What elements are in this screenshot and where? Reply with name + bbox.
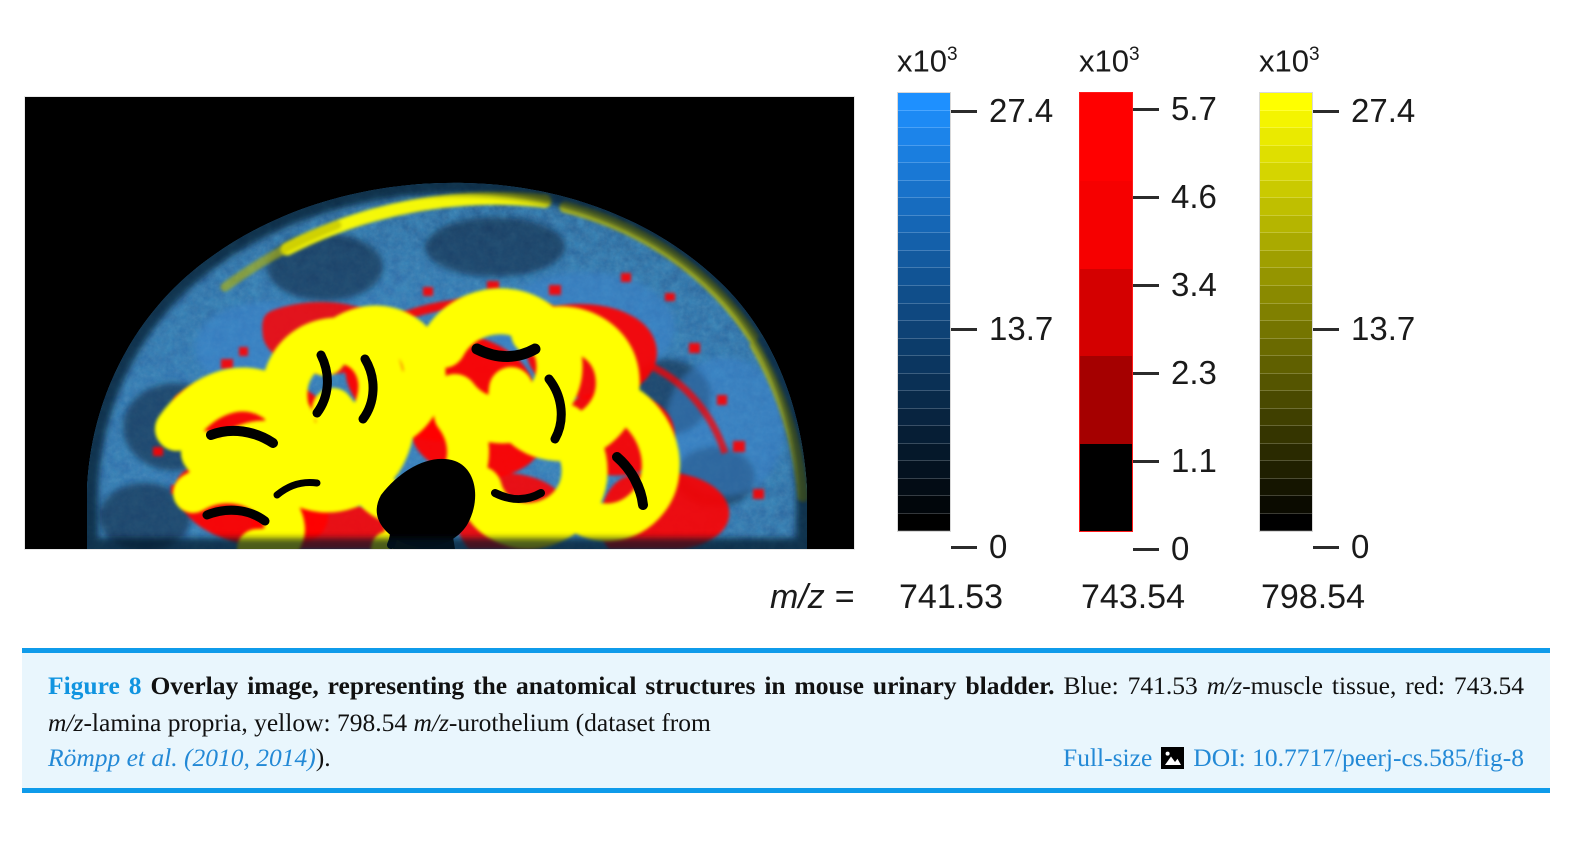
tick-mark bbox=[1133, 372, 1159, 375]
mz-row: m/z = 741.53 743.54 798.54 bbox=[0, 578, 1572, 624]
caption-body-lamina: -lamina propria, yellow: bbox=[83, 708, 330, 737]
tick-mark bbox=[951, 110, 977, 113]
tick-mark bbox=[1133, 548, 1159, 551]
colorbar-blue-exponent-prefix: x10 bbox=[897, 43, 947, 78]
msi-overlay-image bbox=[25, 97, 854, 549]
caption-mz-italic-2: m/z bbox=[48, 708, 83, 737]
colorbar-yellow-exponent: x103 bbox=[1259, 45, 1320, 76]
caption-body-urothelium: -urothelium (dataset from bbox=[449, 708, 711, 737]
doi-link[interactable]: DOI: 10.7717/peerj-cs.585/fig-8 bbox=[1193, 739, 1524, 776]
colorbar-blue-tick-mid: 13.7 bbox=[989, 310, 1053, 348]
colorbar-blue-tick-min: 0 bbox=[989, 528, 1007, 566]
image-thumbnail-glyph bbox=[1163, 749, 1182, 767]
tick-mark bbox=[1313, 328, 1339, 331]
mz-prefix-label: m/z = bbox=[770, 578, 854, 617]
tick-mark bbox=[1313, 546, 1339, 549]
caption-mz-798: 798.54 bbox=[337, 708, 407, 737]
colorbar-red-tick-2: 2.3 bbox=[1171, 354, 1217, 392]
caption-mz-741: 741.53 bbox=[1128, 671, 1198, 700]
colorbar-red-gradient bbox=[1079, 92, 1133, 532]
colorbar-blue-tick-max: 27.4 bbox=[989, 92, 1053, 130]
tick-mark bbox=[951, 328, 977, 331]
colorbar-red-exponent-prefix: x10 bbox=[1079, 43, 1129, 78]
colorbar-yellow-tick-max: 27.4 bbox=[1351, 92, 1415, 130]
caption-links: Full-size DOI: 10.7717/peerj-cs.585/fig-… bbox=[1063, 739, 1524, 776]
colorbar-yellow-tick-min: 0 bbox=[1351, 528, 1369, 566]
figure-caption-box: Figure 8 Overlay image, representing the… bbox=[22, 648, 1550, 793]
colorbar-yellow: x103 27.4 13.7 0 bbox=[1259, 45, 1320, 532]
colorbar-blue-exponent-power: 3 bbox=[947, 44, 958, 65]
caption-mz-italic-3: m/z bbox=[413, 708, 448, 737]
colorbar-yellow-exponent-power: 3 bbox=[1309, 44, 1320, 65]
colorbar-red-tick-4: 4.6 bbox=[1171, 178, 1217, 216]
caption-footer-row: Römpp et al. (2010, 2014)). Full-size DO… bbox=[48, 739, 1524, 776]
colorbar-yellow-gradient bbox=[1259, 92, 1313, 532]
colorbar-red-tick-1: 1.1 bbox=[1171, 442, 1217, 480]
caption-citation-tail: ). bbox=[316, 743, 331, 772]
colorbar-red-tick-3: 3.4 bbox=[1171, 266, 1217, 304]
tissue-svg bbox=[25, 97, 854, 549]
colorbar-red-exponent: x103 bbox=[1079, 45, 1140, 76]
colorbar-red: x103 5.7 4.6 3.4 2.3 bbox=[1079, 45, 1140, 532]
tick-mark bbox=[1133, 460, 1159, 463]
colorbar-red-tick-0: 0 bbox=[1171, 530, 1189, 568]
mz-value-yellow: 798.54 bbox=[1261, 578, 1365, 617]
caption-title: Overlay image, representing the anatomic… bbox=[150, 671, 1054, 700]
colorbar-blue: x103 27.4 13.7 0 bbox=[897, 45, 958, 532]
caption-body-muscle: -muscle tissue, red: bbox=[1242, 671, 1445, 700]
mz-value-red: 743.54 bbox=[1081, 578, 1185, 617]
caption-citation-wrap: Römpp et al. (2010, 2014)). bbox=[48, 739, 331, 776]
citation-link-rompp[interactable]: Römpp et al. (2010, 2014) bbox=[48, 743, 316, 772]
tick-mark bbox=[1133, 196, 1159, 199]
tick-mark bbox=[1133, 284, 1159, 287]
image-thumbnail-icon[interactable] bbox=[1161, 747, 1184, 769]
tick-mark bbox=[1133, 108, 1159, 111]
figure-container: x103 27.4 13.7 0 x103 bbox=[0, 0, 1572, 843]
colorbar-red-tick-5: 5.7 bbox=[1171, 90, 1217, 128]
figure-number-label: Figure 8 bbox=[48, 671, 141, 700]
mz-value-blue: 741.53 bbox=[899, 578, 1003, 617]
colorbar-blue-gradient bbox=[897, 92, 951, 532]
colorbar-blue-exponent: x103 bbox=[897, 45, 958, 76]
colorbar-yellow-exponent-prefix: x10 bbox=[1259, 43, 1309, 78]
tick-mark bbox=[951, 546, 977, 549]
colorbar-yellow-tick-mid: 13.7 bbox=[1351, 310, 1415, 348]
full-size-link[interactable]: Full-size bbox=[1063, 739, 1152, 776]
caption-mz-743: 743.54 bbox=[1454, 671, 1524, 700]
caption-paragraph: Figure 8 Overlay image, representing the… bbox=[48, 667, 1524, 741]
colorbar-red-exponent-power: 3 bbox=[1129, 44, 1140, 65]
tick-mark bbox=[1313, 110, 1339, 113]
caption-body-blue-prefix: Blue: bbox=[1063, 671, 1118, 700]
colorbar-yellow-ticks: 27.4 13.7 0 bbox=[1313, 92, 1513, 532]
caption-mz-italic-1: m/z bbox=[1207, 671, 1242, 700]
